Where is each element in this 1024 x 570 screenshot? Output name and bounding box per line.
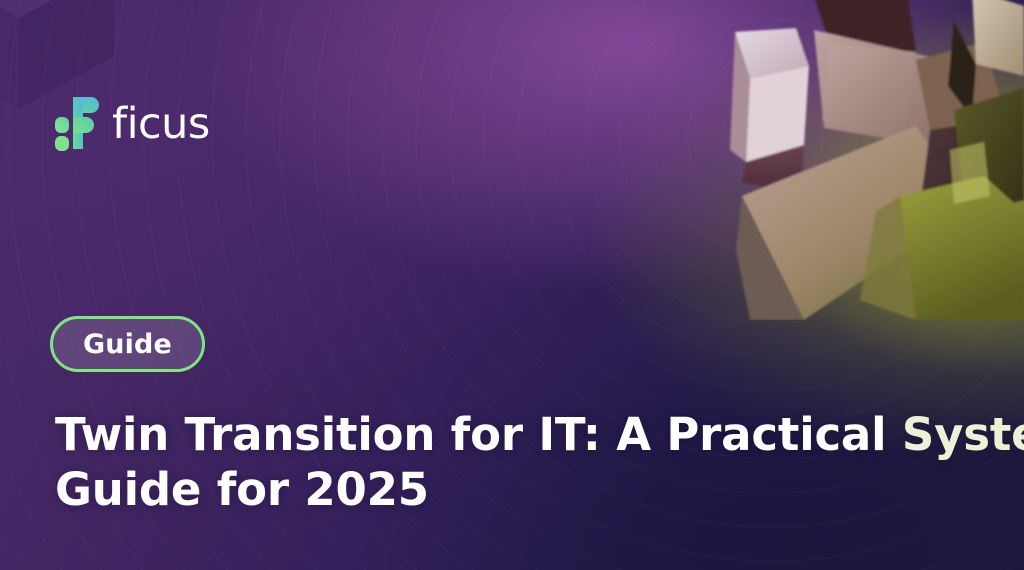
brand-wordmark: ficus [112, 103, 210, 146]
ficus-logo-icon [53, 95, 99, 151]
page-title: Twin Transition for IT: A Practical Syst… [55, 408, 985, 518]
brand-logo[interactable]: ficus [53, 94, 210, 152]
content-type-badge[interactable]: Guide [50, 316, 205, 372]
title-line-1: Twin Transition for IT: A Practical Syst… [55, 408, 985, 463]
title-line-2: Guide for 2025 [55, 463, 985, 518]
hero-banner: ficus Guide Twin Transition for IT: A Pr… [0, 0, 1024, 570]
title-line-1-tinted: Systems [902, 408, 1024, 461]
title-line-1-plain: Twin Transition for IT: A Practical [55, 408, 902, 461]
badge-label: Guide [83, 329, 172, 360]
